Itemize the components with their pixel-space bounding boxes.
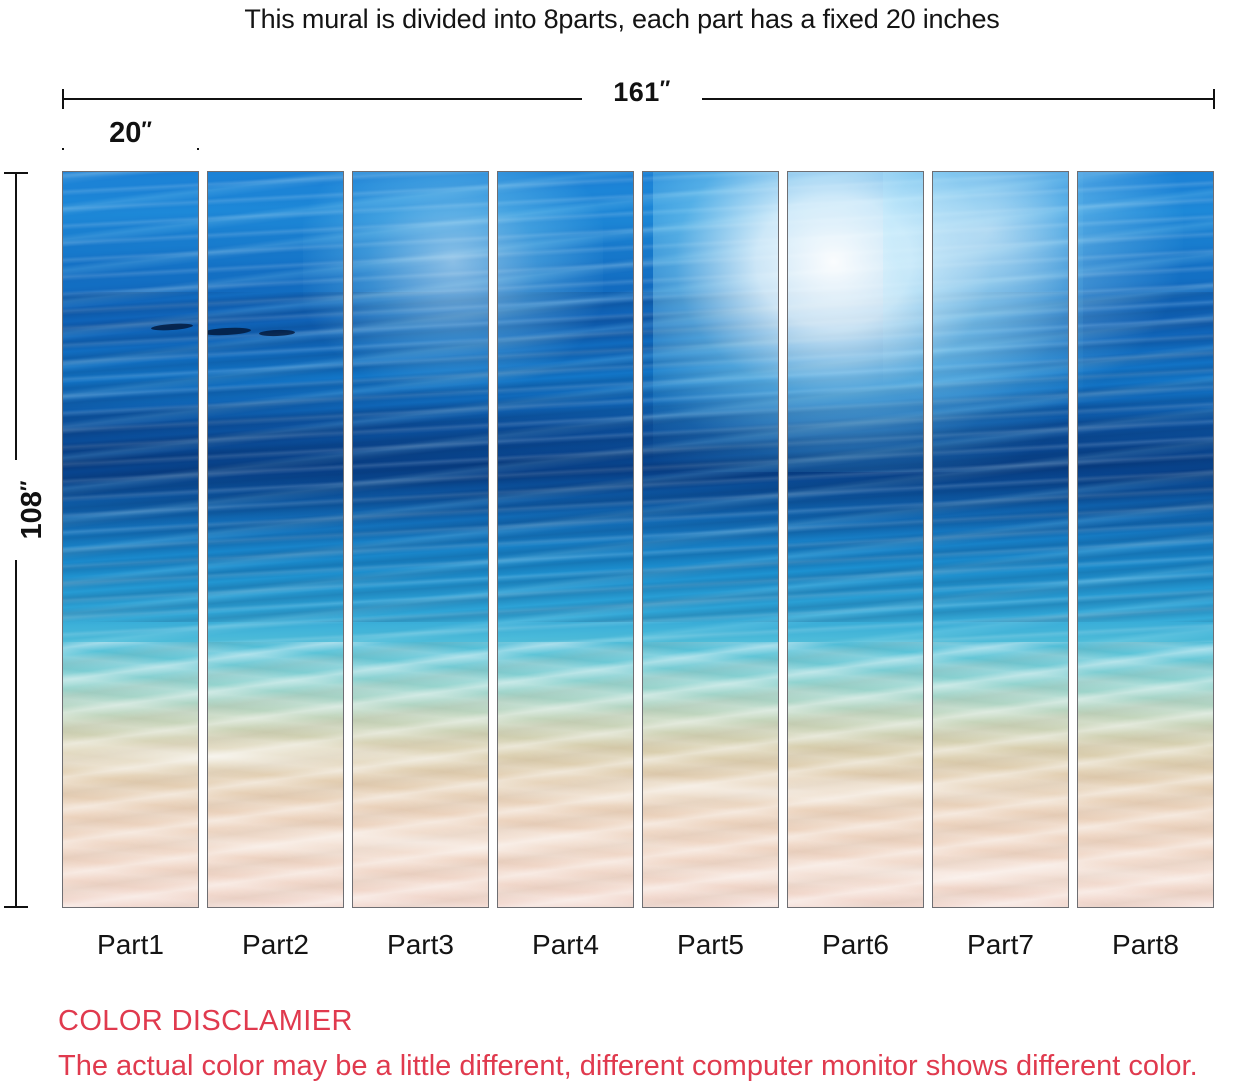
mural-panel-8[interactable] <box>1077 171 1214 908</box>
water-ripples-dark <box>63 292 199 622</box>
panel-width-label: 20″ <box>62 115 199 148</box>
height-dimension-tick-bottom <box>4 906 28 908</box>
ocean-scene <box>207 172 344 907</box>
width-dimension-value: 161 <box>613 77 660 107</box>
inch-mark-icon: ″ <box>660 76 671 101</box>
color-disclaimer-title: COLOR DISCLAMIER <box>58 1005 353 1038</box>
mural-panel-5[interactable] <box>642 171 779 908</box>
sand-wave-highlights <box>1077 692 1214 907</box>
ocean-scene <box>787 172 924 907</box>
ocean-scene <box>1077 172 1214 907</box>
ocean-scene <box>497 172 634 907</box>
surface-glow-left <box>497 171 603 392</box>
ocean-scene <box>352 172 489 907</box>
sand-wave-highlights <box>63 692 199 907</box>
surface-glow-left <box>303 171 344 392</box>
panel-width-value: 20 <box>109 117 141 149</box>
inch-mark-icon: ″ <box>16 481 41 492</box>
part-label-7: Part7 <box>932 925 1069 965</box>
mural-panel-6[interactable] <box>787 171 924 908</box>
height-dimension-label: 108″ <box>9 460 49 560</box>
mural-size-guide: This mural is divided into 8parts, each … <box>0 0 1244 1092</box>
sand-wave-highlights <box>497 692 634 907</box>
dimension-tick-left <box>62 89 64 109</box>
height-dimension-tick-top <box>4 172 28 174</box>
height-dimension-108: 108″ <box>15 172 17 908</box>
mural-panel-4[interactable] <box>497 171 634 908</box>
dimension-line-left <box>62 98 582 100</box>
sand-wave-highlights <box>352 692 489 907</box>
ocean-scene <box>932 172 1069 907</box>
part-label-6: Part6 <box>787 925 924 965</box>
color-disclaimer-body: The actual color may be a little differe… <box>58 1050 1198 1083</box>
ocean-scene <box>642 172 779 907</box>
mural-panel-strip <box>62 171 1215 908</box>
sun-glow-secondary <box>1077 171 1183 412</box>
part-label-row: Part1 Part2 Part3 Part4 Part5 Part6 Part… <box>62 925 1215 965</box>
sun-glow-secondary <box>883 171 924 412</box>
dimension-line-right <box>702 98 1215 100</box>
sun-glow-secondary <box>932 171 1069 412</box>
part-label-8: Part8 <box>1077 925 1214 965</box>
part-label-3: Part3 <box>352 925 489 965</box>
surface-glow-left <box>352 171 489 392</box>
part-label-4: Part4 <box>497 925 634 965</box>
sun-glow <box>653 171 779 472</box>
part-label-5: Part5 <box>642 925 779 965</box>
ocean-scene <box>63 172 199 907</box>
mural-panel-2[interactable] <box>207 171 344 908</box>
sand-wave-highlights <box>642 692 779 907</box>
page-title: This mural is divided into 8parts, each … <box>0 4 1244 35</box>
dimension-tick-right <box>1213 89 1215 109</box>
mural-panel-7[interactable] <box>932 171 1069 908</box>
part-label-1: Part1 <box>62 925 199 965</box>
mural-panel-1[interactable] <box>62 171 199 908</box>
sand-wave-highlights <box>787 692 924 907</box>
height-dimension-value: 108 <box>16 491 48 539</box>
sand-wave-highlights <box>207 692 344 907</box>
part-label-2: Part2 <box>207 925 344 965</box>
inch-mark-icon: ″ <box>141 117 152 142</box>
sand-wave-highlights <box>932 692 1069 907</box>
panel-width-dimension-20: 20″ <box>62 139 199 141</box>
width-dimension-161: 161″ <box>62 98 1215 100</box>
mural-panel-3[interactable] <box>352 171 489 908</box>
width-dimension-label: 161″ <box>582 76 702 108</box>
